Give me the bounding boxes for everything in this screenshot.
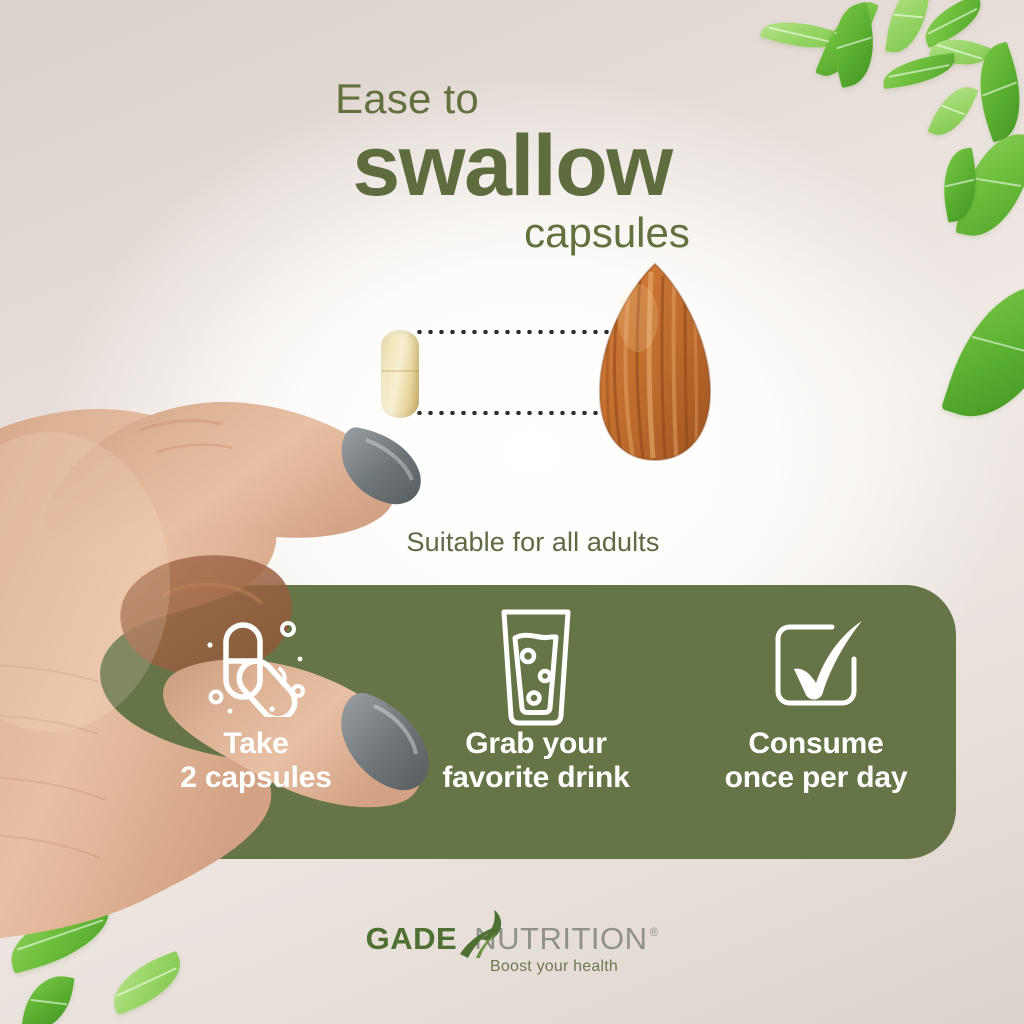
- headline-line-3: capsules: [190, 212, 1024, 254]
- logo-registered-mark: ®: [650, 925, 659, 939]
- headline-block: Ease to swallow capsules: [0, 78, 1024, 254]
- step-consume-daily[interactable]: Consume once per day: [676, 585, 956, 859]
- headline-line-1: Ease to: [0, 78, 814, 120]
- step-grab-drink[interactable]: Grab your favorite drink: [396, 585, 676, 859]
- almond-image: [596, 262, 714, 462]
- leaf-swoosh-icon: [454, 908, 510, 958]
- leaf-icon: [885, 0, 931, 56]
- step-label: Take 2 capsules: [180, 727, 331, 794]
- drinking-glass-icon: [488, 605, 584, 725]
- leaf-icon: [941, 266, 1024, 436]
- headline-line-2: swallow: [0, 124, 1024, 208]
- step-label: Grab your favorite drink: [442, 727, 629, 794]
- step-take-capsules[interactable]: Take 2 capsules: [72, 585, 396, 859]
- dotted-connector-top: [414, 330, 624, 334]
- leaf-icon: [21, 971, 74, 1024]
- steps-list: Take 2 capsules Grab your favorite dr: [72, 585, 956, 859]
- checkmark-box-icon: [764, 605, 868, 725]
- two-capsules-icon: [200, 605, 312, 725]
- logo-tagline: Boost your health: [490, 958, 618, 976]
- dotted-connector-bottom: [414, 411, 616, 415]
- step-label: Consume once per day: [725, 727, 908, 794]
- promo-poster: Ease to swallow capsules: [0, 0, 1024, 1024]
